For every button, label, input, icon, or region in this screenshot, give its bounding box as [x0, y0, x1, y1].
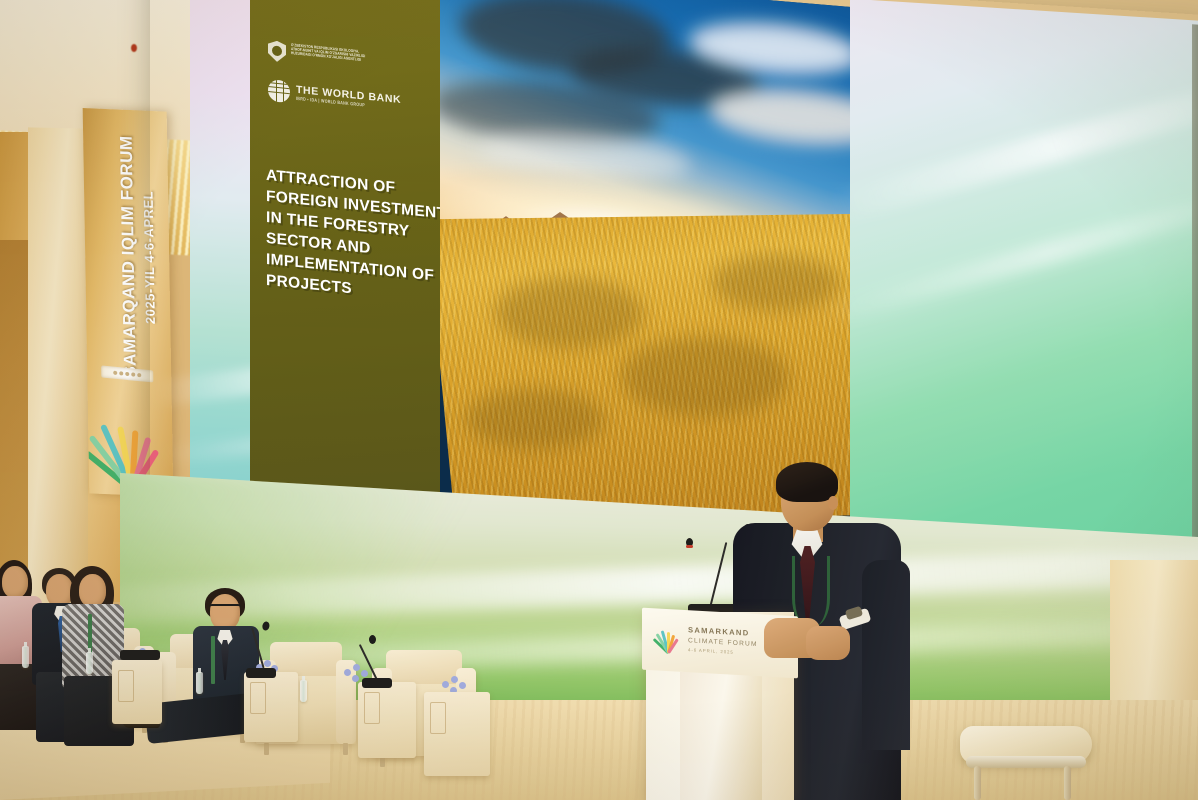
bar-stool	[960, 726, 1092, 800]
speaker-lanyard	[792, 556, 830, 626]
panelist-glasses	[209, 604, 241, 614]
government-agency-lines: O'ZBEKISTON RESPUBLIKASI EKOLOGIYA, ATRO…	[291, 41, 448, 70]
slide-title: ATTRACTION OF FOREIGN INVESTMENTS IN THE…	[266, 165, 466, 311]
banner-line2: IQLIM FORUM	[117, 135, 138, 256]
water-bottle	[86, 652, 93, 674]
side-table-label	[430, 702, 446, 734]
mic-indicator-band	[686, 545, 693, 548]
world-bank-wordmark: THE WORLD BANK IBRD • IDA | WORLD BANK G…	[296, 84, 401, 111]
panelist-lanyard	[211, 636, 215, 684]
mic-base	[246, 668, 276, 678]
chair-leg	[343, 743, 348, 755]
presentation-slide: O'ZBEKISTON RESPUBLIKASI EKOLOGIYA, ATRO…	[250, 0, 460, 521]
side-table-label	[118, 670, 134, 702]
podium-wordmark: SAMARKAND CLIMATE FORUM 4-6 APRIL, 2025	[688, 626, 758, 656]
screen-right-edge	[1192, 24, 1198, 565]
mic-capsule	[369, 635, 376, 644]
podium-column	[680, 672, 762, 800]
side-table	[358, 682, 416, 758]
banner-line1: SAMARQAND	[119, 260, 140, 378]
panelist-head	[79, 574, 106, 607]
water-bottle	[300, 680, 307, 702]
world-bank-lockup: THE WORLD BANK IBRD • IDA | WORLD BANK G…	[268, 79, 448, 119]
panelist-head	[2, 566, 28, 598]
podium-line1: SAMARKAND	[688, 626, 758, 637]
samarkand-climate-forum-logo	[656, 624, 682, 655]
wall-pillar	[28, 127, 88, 608]
water-bottle	[196, 672, 203, 694]
laptop-on-table	[120, 650, 160, 660]
conference-hall-screenshot: SAMARQAND IQLIM FORUM 2025-YIL 4-6-APREL	[0, 0, 1198, 800]
side-table	[244, 672, 298, 742]
podium-line3: 4-6 APRIL, 2025	[688, 648, 758, 656]
speaker-hair	[776, 462, 838, 502]
speaker-ear	[828, 496, 838, 510]
stool-leg	[1064, 766, 1071, 800]
speaker-arm	[862, 560, 910, 750]
side-table	[424, 692, 490, 776]
ceiling-indicator-light	[131, 44, 137, 52]
government-agency-lockup: O'ZBEKISTON RESPUBLIKASI EKOLOGIYA, ATRO…	[268, 39, 448, 79]
slide-logo-block: O'ZBEKISTON RESPUBLIKASI EKOLOGIYA, ATRO…	[268, 39, 448, 119]
light-streak	[828, 70, 1198, 224]
speaker-hand	[806, 626, 850, 660]
stool-leg	[974, 766, 981, 800]
uzbekistan-state-emblem	[268, 40, 286, 63]
side-table	[112, 660, 162, 724]
water-bottle	[22, 646, 29, 668]
mic-base	[362, 678, 392, 688]
side-table-label	[364, 692, 380, 724]
podium-line2: CLIMATE FORUM	[688, 638, 758, 648]
world-bank-globe-icon	[268, 79, 290, 103]
right-gradient-panel	[850, 0, 1198, 581]
chair-leg	[264, 743, 269, 755]
side-table-label	[250, 682, 266, 714]
